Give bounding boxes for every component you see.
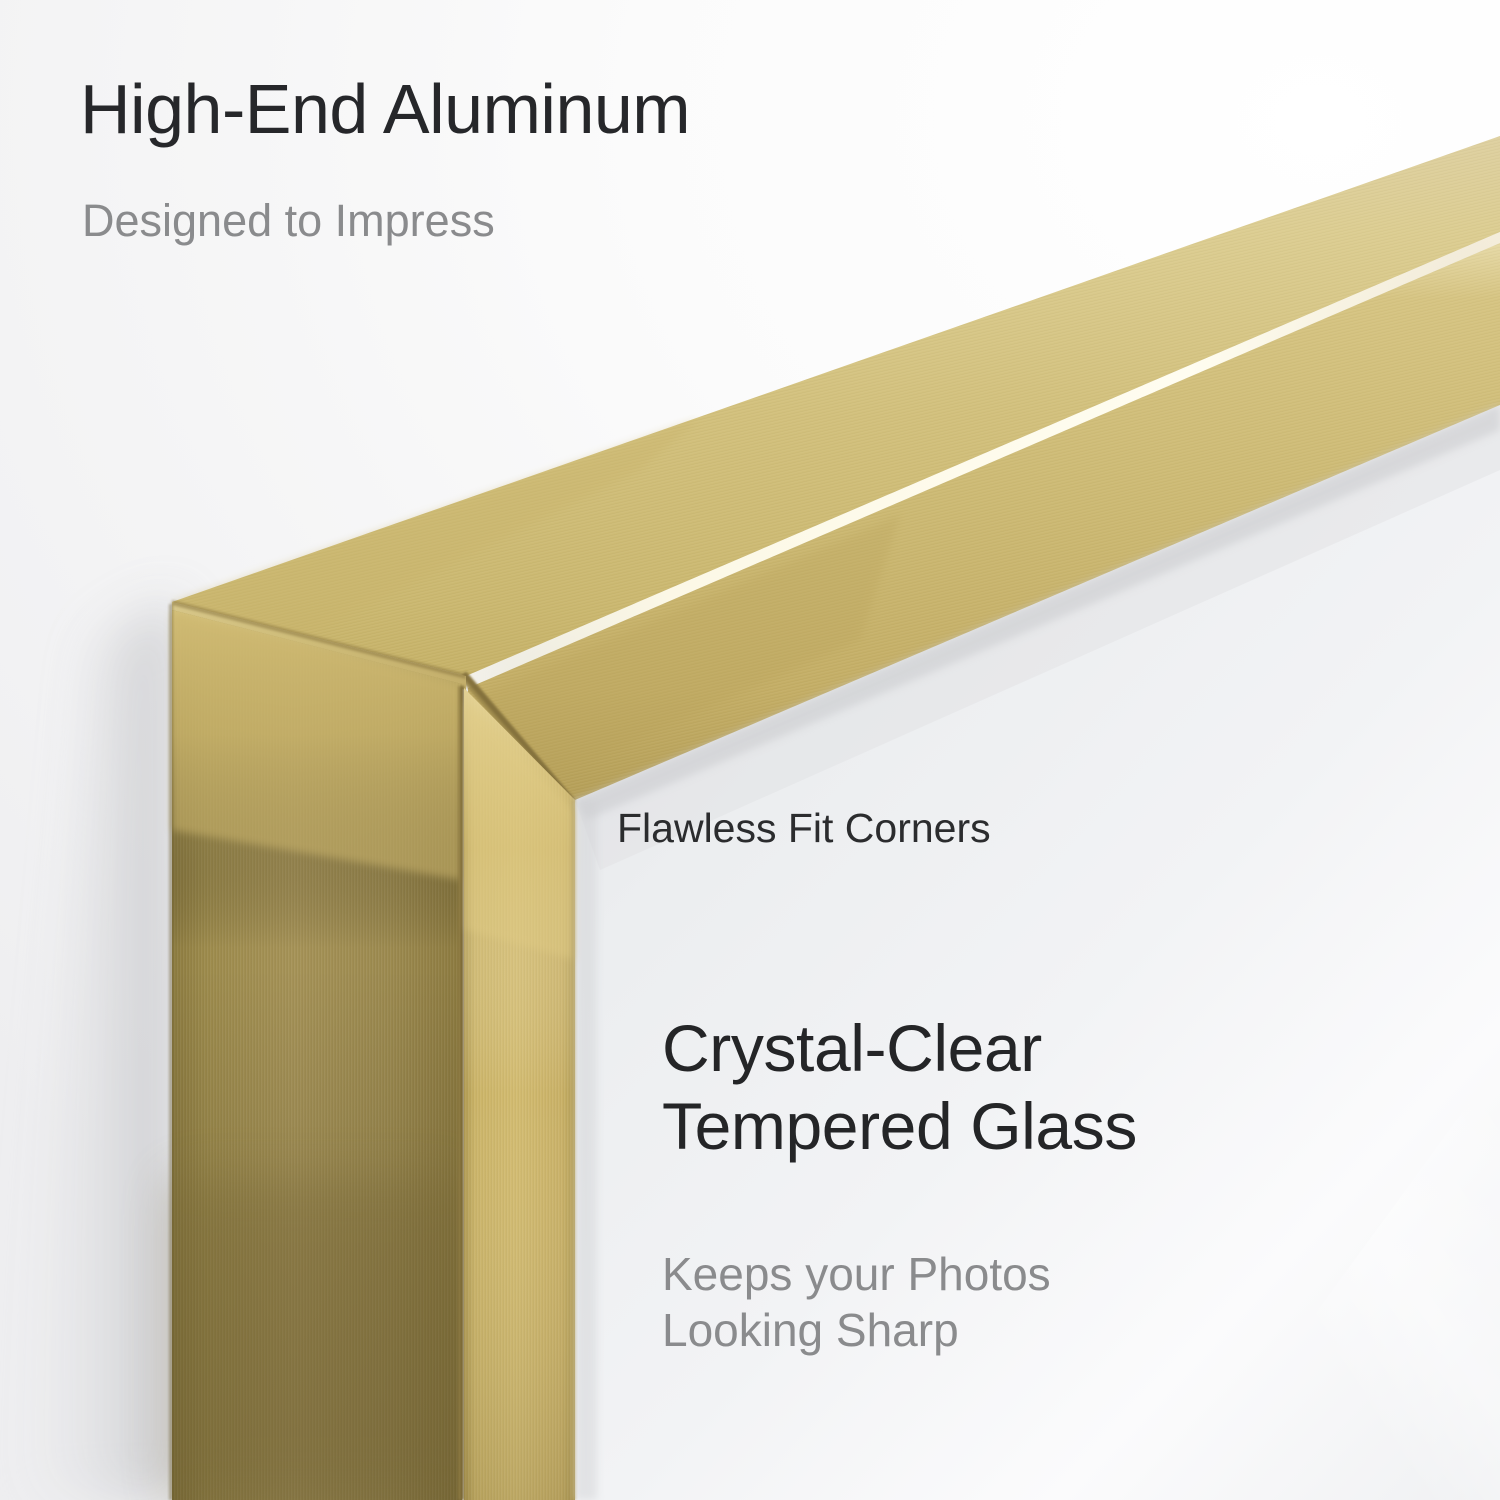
callout-glass-title-line1: Crystal-Clear — [662, 1010, 1137, 1088]
callout-glass-subtitle: Keeps your Photos Looking Sharp — [662, 1246, 1051, 1358]
callout-flawless-fit-corners: Flawless Fit Corners — [617, 806, 991, 851]
product-feature-canvas: High-End Aluminum Designed to Impress Fl… — [0, 0, 1500, 1500]
callout-glass-subtitle-line2: Looking Sharp — [662, 1302, 1051, 1358]
text-overlay: High-End Aluminum Designed to Impress Fl… — [0, 0, 1500, 1500]
page-subtitle: Designed to Impress — [82, 196, 495, 246]
page-title: High-End Aluminum — [80, 72, 690, 146]
callout-glass-title-line2: Tempered Glass — [662, 1088, 1137, 1166]
callout-glass-title: Crystal-Clear Tempered Glass — [662, 1010, 1137, 1166]
callout-glass-subtitle-line1: Keeps your Photos — [662, 1246, 1051, 1302]
